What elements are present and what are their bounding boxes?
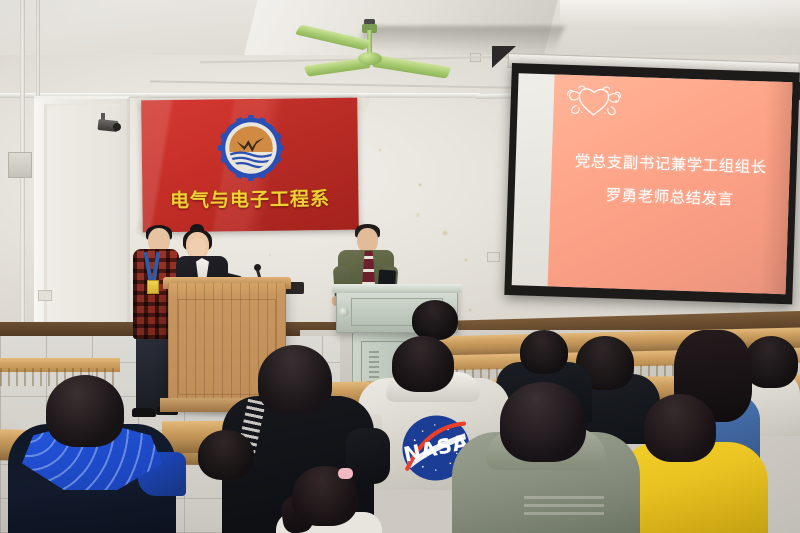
ceiling-fan-icon <box>358 52 382 65</box>
list-item <box>412 300 458 340</box>
host-badge <box>147 280 159 294</box>
student-olive-hoodie-head <box>500 382 586 462</box>
microphone-icon <box>254 264 261 271</box>
department-emblem-icon <box>218 115 284 181</box>
host-female-face <box>189 238 206 257</box>
wall-socket <box>38 290 52 301</box>
ceiling-shadow <box>355 26 564 52</box>
photo-scene: 电气与电子工程系 <box>0 0 800 533</box>
ceiling-beam-right <box>560 0 800 30</box>
slide-line-2: 罗勇老师总结发言 <box>550 181 789 211</box>
camera-lens-icon <box>113 123 121 131</box>
list-item <box>520 330 568 374</box>
slide-line-1: 党总支副书记兼学工组组长 <box>551 148 790 178</box>
presentation-slide: 党总支副书记兼学工组组长 罗勇老师总结发言 <box>548 74 793 294</box>
banner-text: 电气与电子工程系 <box>142 185 358 216</box>
wall-socket-2 <box>487 252 500 262</box>
pink-hair-tie <box>338 468 353 479</box>
student-tracksuit-head <box>258 345 332 415</box>
electrical-junction-box <box>8 152 32 178</box>
projection-screen: 党总支副书记兼学工组组长 罗勇老师总结发言 <box>504 63 800 304</box>
slide-edge-shadow <box>759 81 792 294</box>
student-yellow-jacket-head <box>644 394 716 462</box>
console-knob[interactable] <box>339 307 349 317</box>
list-item <box>198 430 254 480</box>
screen-surface: 党总支副书记兼学工组组长 罗勇老师总结发言 <box>512 73 793 294</box>
heart-flourish-icon <box>564 85 623 121</box>
student-nasa-head <box>392 336 454 392</box>
list-item <box>744 336 798 388</box>
student-blue-jacket-head <box>46 375 124 447</box>
console-desk-lip <box>332 284 462 293</box>
hoodie-print <box>524 496 604 518</box>
door-frame-inner <box>44 104 120 326</box>
